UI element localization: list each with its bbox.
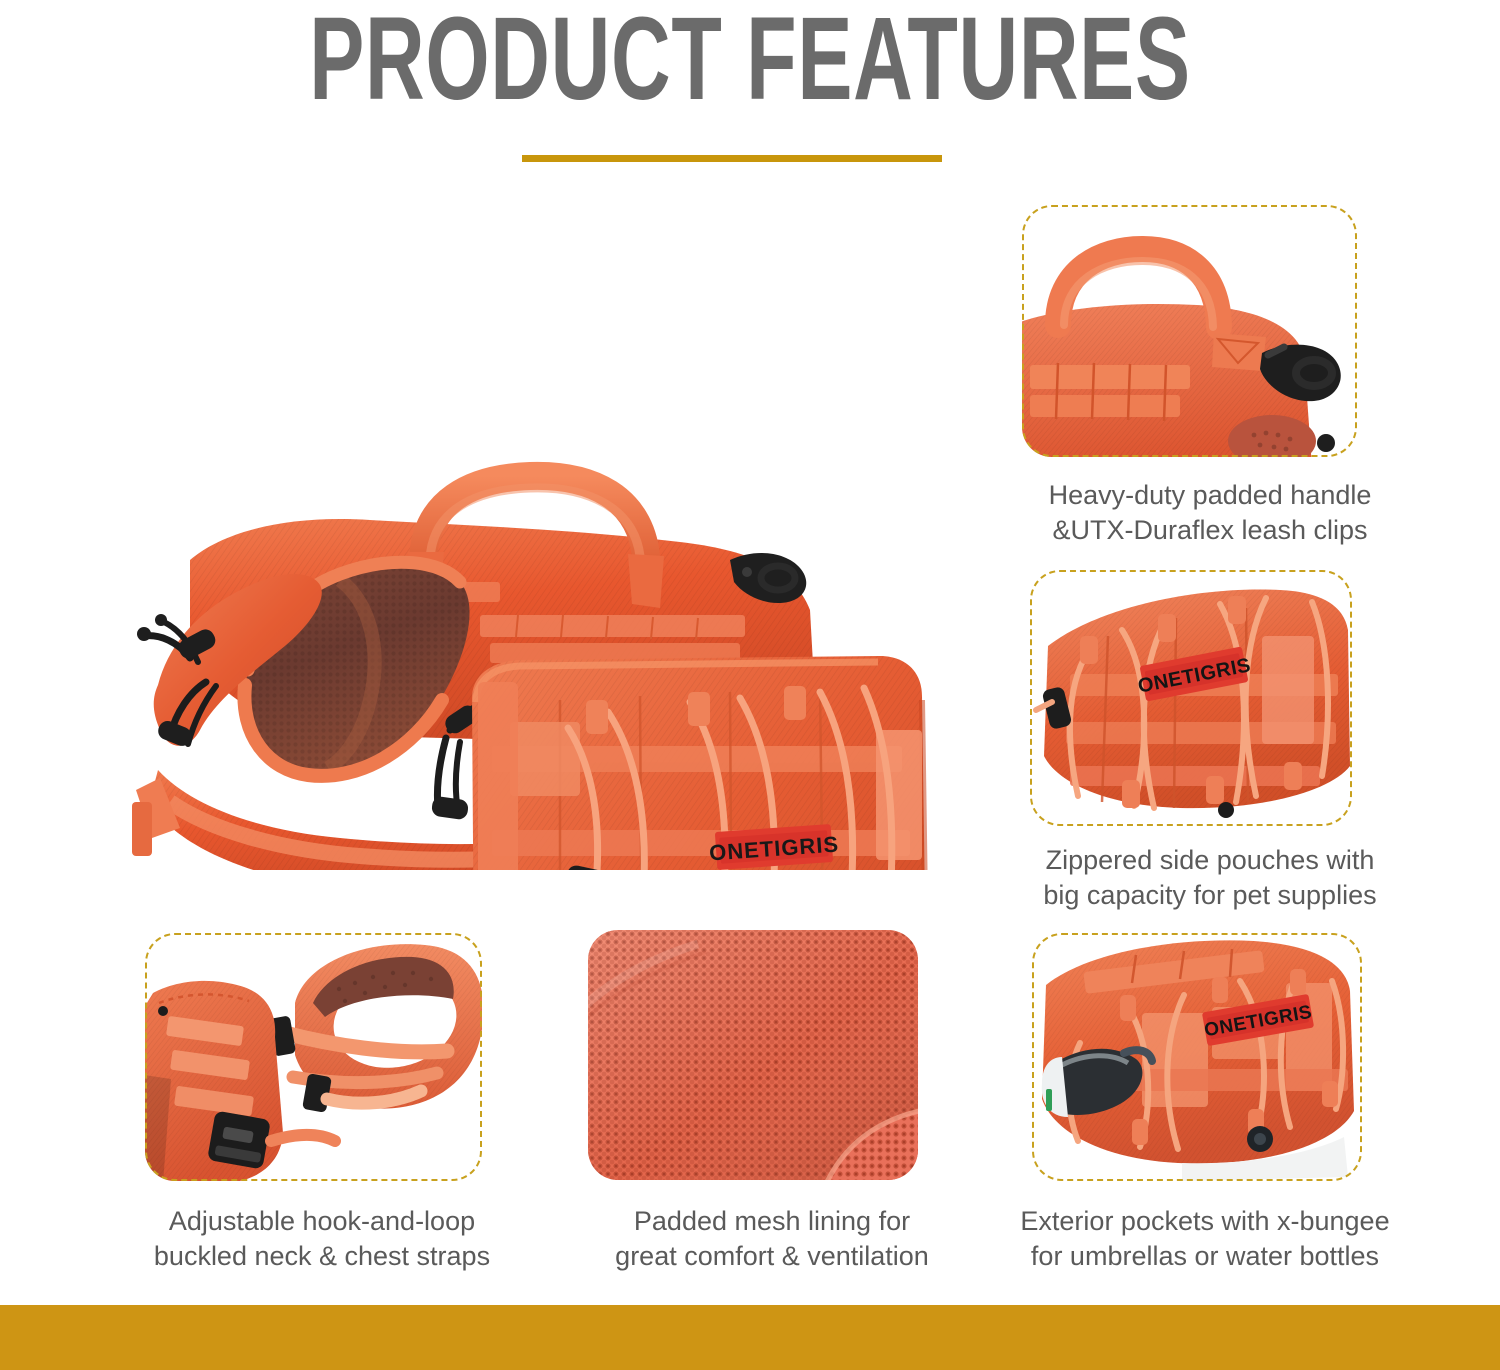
- caption-line: Zippered side pouches with: [1000, 843, 1420, 878]
- feature-card-mesh-image: [588, 930, 918, 1180]
- caption-line: Adjustable hook-and-loop: [112, 1204, 532, 1239]
- feature-caption-straps: Adjustable hook-and-loop buckled neck & …: [112, 1204, 532, 1274]
- title-underline-rule: [522, 155, 942, 162]
- feature-card-pouch: ONETIGRIS: [1030, 570, 1352, 826]
- feature-card-handle-image: [1022, 205, 1357, 457]
- feature-card-bungee-image: ONETIGRIS: [1032, 933, 1362, 1181]
- caption-line: Exterior pockets with x-bungee: [985, 1204, 1425, 1239]
- feature-card-pouch-image: ONETIGRIS: [1030, 570, 1352, 826]
- caption-line: for umbrellas or water bottles: [985, 1239, 1425, 1274]
- footer-gold-bar: [0, 1305, 1500, 1370]
- feature-caption-bungee: Exterior pockets with x-bungee for umbre…: [985, 1204, 1425, 1274]
- feature-card-straps-image: [145, 933, 482, 1181]
- caption-line: great comfort & ventilation: [562, 1239, 982, 1274]
- caption-line: big capacity for pet supplies: [1000, 878, 1420, 913]
- feature-card-straps: [145, 933, 482, 1181]
- feature-caption-pouch: Zippered side pouches with big capacity …: [1000, 843, 1420, 913]
- feature-card-handle: [1022, 205, 1357, 457]
- feature-card-bungee: ONETIGRIS: [1032, 933, 1362, 1181]
- hero-product-image: ONETIGRIS: [40, 230, 970, 870]
- caption-line: Padded mesh lining for: [562, 1204, 982, 1239]
- caption-line: &UTX-Duraflex leash clips: [1000, 513, 1420, 548]
- feature-caption-handle: Heavy-duty padded handle &UTX-Duraflex l…: [1000, 478, 1420, 548]
- feature-card-mesh: [588, 930, 918, 1180]
- title-block: PRODUCT FEATURES: [0, 0, 1500, 185]
- page-title: PRODUCT FEATURES: [225, 0, 1275, 124]
- feature-caption-mesh: Padded mesh lining for great comfort & v…: [562, 1204, 982, 1274]
- caption-line: Heavy-duty padded handle: [1000, 478, 1420, 513]
- caption-line: buckled neck & chest straps: [112, 1239, 532, 1274]
